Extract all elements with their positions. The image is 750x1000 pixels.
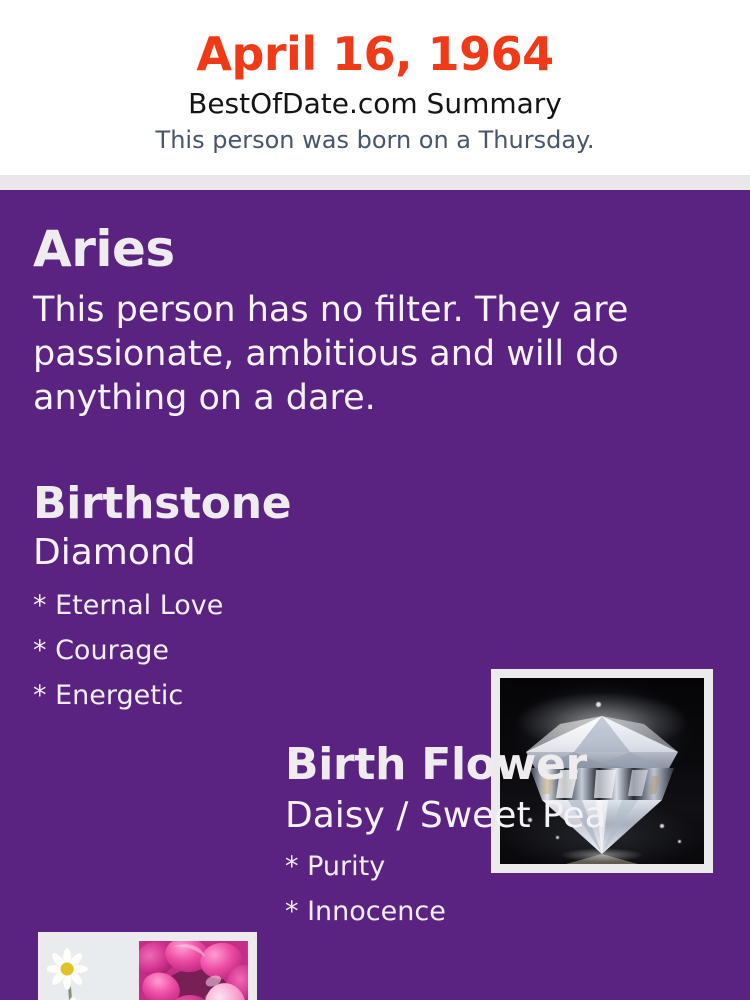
birthstone-title: Birthstone: [33, 478, 453, 530]
list-item: * Eternal Love: [33, 583, 453, 628]
list-item: * Purity: [285, 844, 725, 889]
birthstone-traits-list: * Eternal Love * Courage * Energetic: [33, 575, 453, 718]
sweet-pea-photo: [139, 941, 248, 1000]
zodiac-sign-name: Aries: [33, 220, 653, 278]
weekday-note: This person was born on a Thursday.: [0, 122, 750, 156]
list-item: * Courage: [33, 628, 453, 673]
header-divider: [0, 175, 750, 190]
list-item: * Innocence: [285, 889, 725, 934]
zodiac-section: Aries This person has no filter. They ar…: [33, 220, 653, 420]
sparkle-icon: [596, 702, 601, 707]
daisy-flowers-icon: [47, 941, 139, 1000]
zodiac-description: This person has no filter. They are pass…: [33, 278, 653, 420]
page-title: April 16, 1964: [0, 0, 750, 82]
birthstone-section: Birthstone Diamond * Eternal Love * Cour…: [33, 478, 453, 718]
card-header: April 16, 1964 BestOfDate.com Summary Th…: [0, 0, 750, 175]
site-summary-label: BestOfDate.com Summary: [0, 82, 750, 122]
list-item: * Energetic: [33, 673, 453, 718]
daisy-photo: [47, 941, 139, 1000]
birth-flower-title: Birth Flower: [285, 738, 725, 792]
birth-flower-image-frame: [38, 932, 257, 1000]
flower-composite: [47, 941, 248, 1000]
birthday-summary-card: April 16, 1964 BestOfDate.com Summary Th…: [0, 0, 750, 1000]
birthstone-name: Diamond: [33, 530, 453, 575]
birth-flower-section: Birth Flower Daisy / Sweet Pea * Purity …: [285, 738, 725, 934]
birth-flower-traits-list: * Purity * Innocence: [285, 838, 725, 934]
sweet-pea-flowers-icon: [139, 941, 248, 1000]
birth-flower-name: Daisy / Sweet Pea: [285, 792, 725, 838]
content-panel: Aries This person has no filter. They ar…: [0, 190, 750, 1000]
birth-flower-image: [47, 941, 248, 1000]
